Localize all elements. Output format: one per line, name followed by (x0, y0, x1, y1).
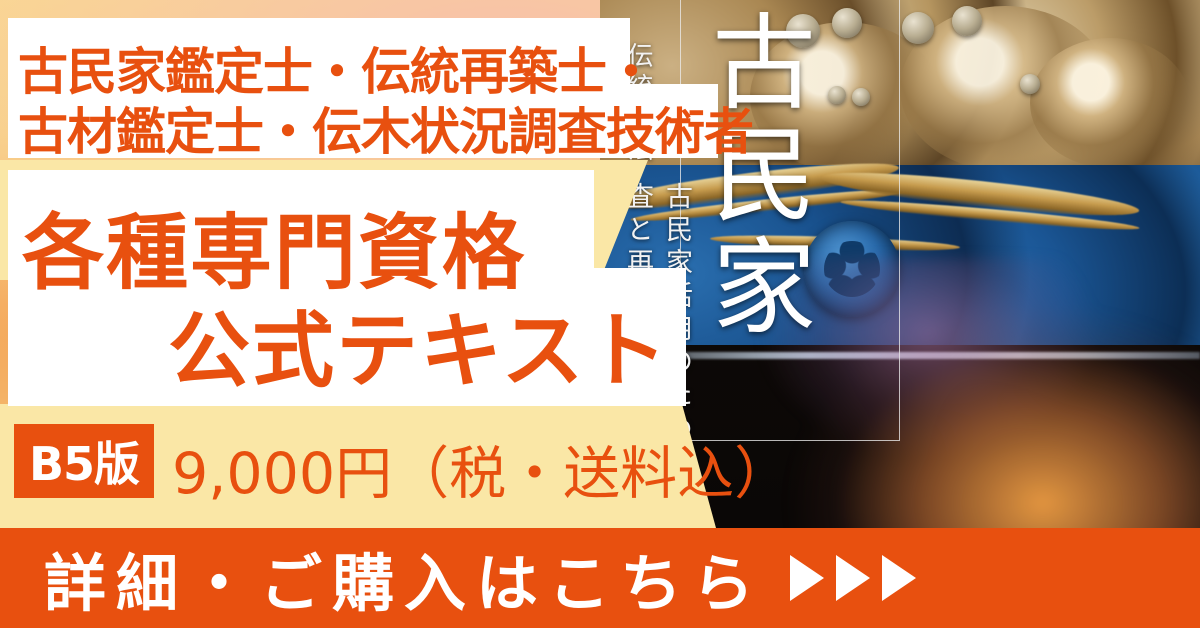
cta-bar[interactable]: 詳細・ご購入はこちら (0, 528, 1200, 628)
headline-line-2: 古材鑑定士・伝木状況調査技術者 (18, 92, 753, 164)
format-badge: B5版 (14, 424, 154, 498)
carving-bead-4 (952, 6, 982, 36)
carving-bead-3 (902, 12, 934, 44)
price-text: 9,000円（税・送料込） (172, 428, 791, 510)
title-line-2: 公式テキスト (168, 284, 670, 403)
carving-scroll-3 (1030, 38, 1190, 168)
triangle-right-icon (836, 555, 870, 601)
promo-banner: 古民家 伝統構法 古民家活用のための調査と再生の 古民家鑑定士・伝統再築士・ 古… (0, 0, 1200, 628)
carving-bead-7 (1020, 74, 1040, 94)
triangle-right-icon (882, 555, 916, 601)
cta-arrows (790, 555, 916, 601)
cta-label: 詳細・ご購入はこちら (44, 533, 764, 623)
cover-title-vertical: 古民家 (696, 8, 812, 344)
triangle-right-icon (790, 555, 824, 601)
